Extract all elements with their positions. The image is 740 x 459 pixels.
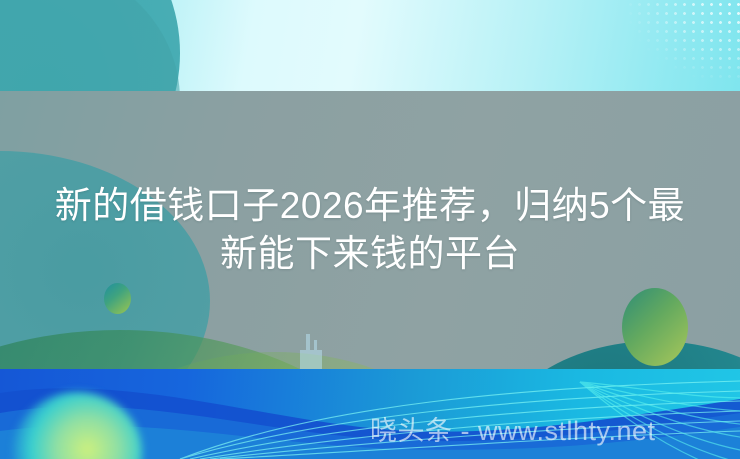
poster-title: 新的借钱口子2026年推荐，归纳5个最 新能下来钱的平台 [0,182,740,278]
halftone-dots-decor [590,0,740,100]
title-line-1: 新的借钱口子2026年推荐，归纳5个最 [0,182,740,230]
title-line-2: 新能下来钱的平台 [0,230,740,278]
site-watermark: 晓头条 - www.stlhty.net [370,415,740,447]
poster-canvas: 新的借钱口子2026年推荐，归纳5个最 新能下来钱的平台 晓头条 - www.s… [0,0,740,459]
top-cyan-band [0,0,740,91]
small-gradient-sphere [104,283,131,314]
